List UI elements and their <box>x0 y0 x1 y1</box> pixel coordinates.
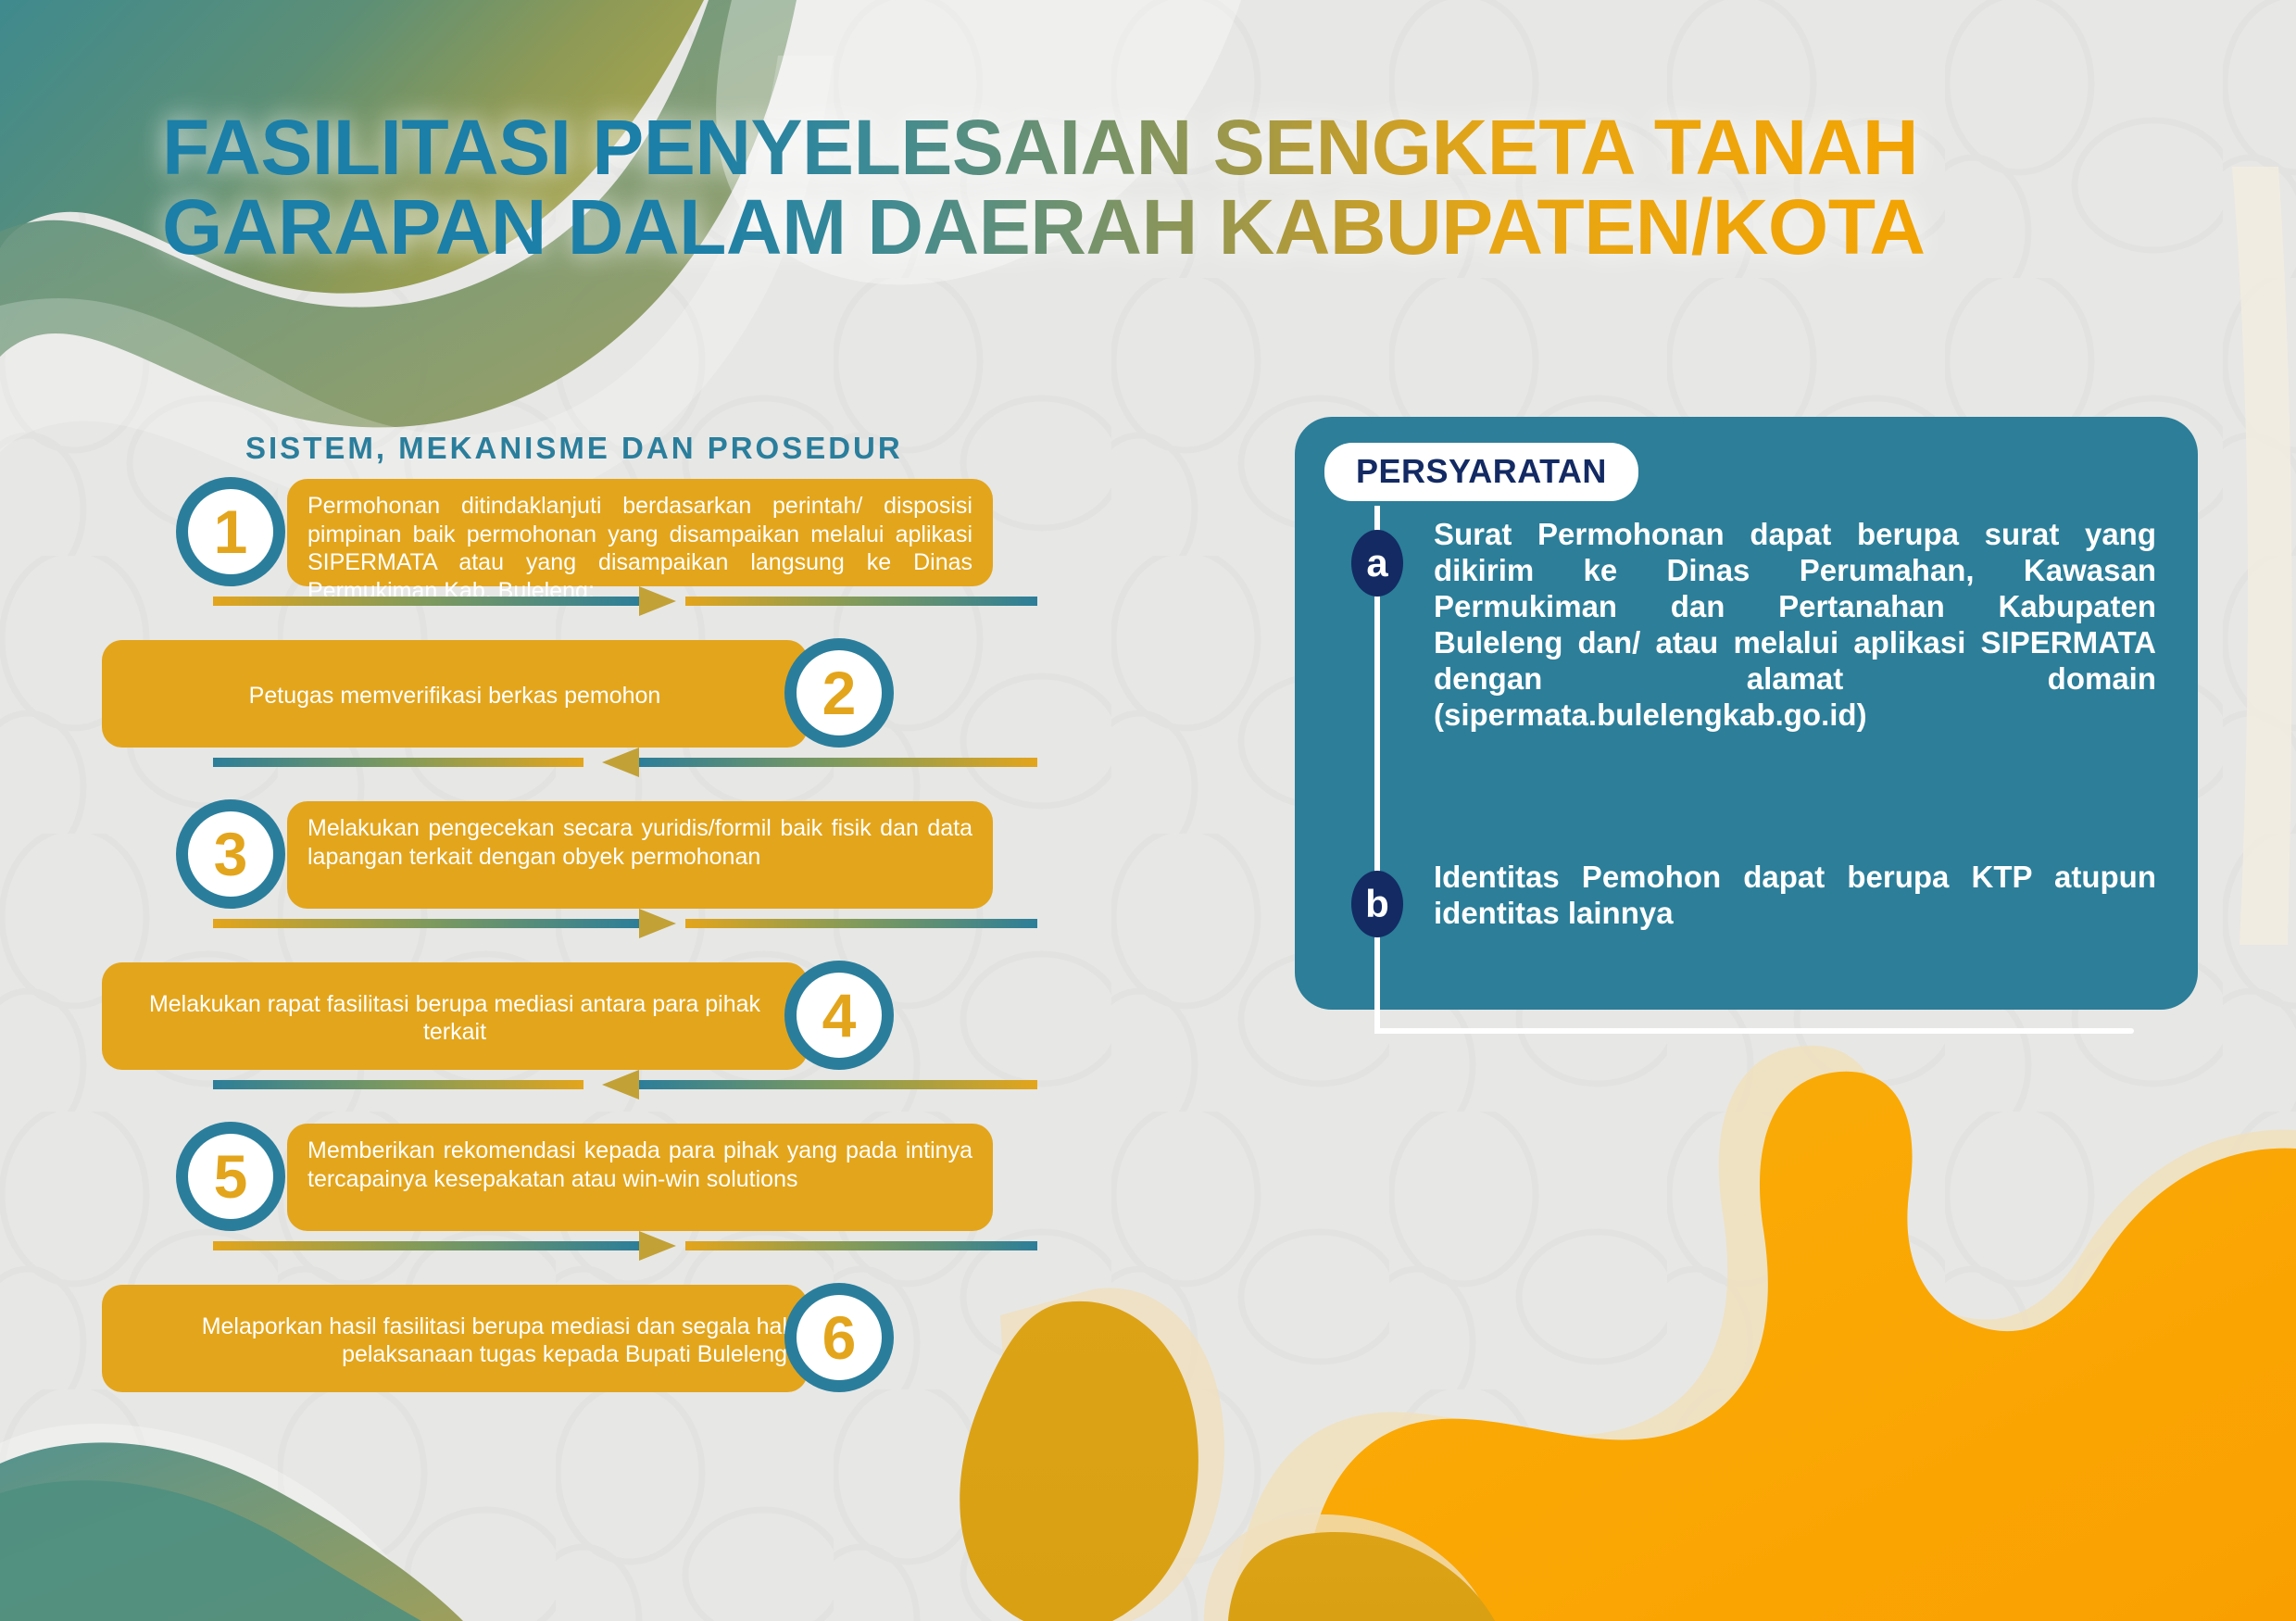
badge-inner: 5 <box>188 1134 273 1219</box>
title-line-1: FASILITASI PENYELESAIAN SENGKETA TANAH <box>162 109 2014 185</box>
requirement-text: Surat Permohonan dapat berupa surat yang… <box>1434 517 2156 734</box>
step-box: Melakukan rapat fasilitasi berupa medias… <box>102 962 808 1070</box>
badge-inner: 4 <box>797 973 882 1058</box>
step-box: Melakukan pengecekan secara yuridis/form… <box>287 801 993 909</box>
step-text: Melakukan rapat fasilitasi berupa medias… <box>122 990 787 1047</box>
step-number: 1 <box>214 501 248 562</box>
step-badge-3: 3 <box>176 799 285 909</box>
step-box: Petugas memverifikasi berkas pemohon <box>102 640 808 748</box>
step-box: Permohonan ditindaklanjuti berdasarkan p… <box>287 479 993 586</box>
step-badge-2: 2 <box>784 638 894 748</box>
infographic-poster: FASILITASI PENYELESAIAN SENGKETA TANAH G… <box>0 0 2296 1621</box>
connector-4-5 <box>157 1064 1084 1105</box>
procedure-step: 6 Melaporkan hasil fasilitasi berupa med… <box>157 1275 1084 1413</box>
title-line-2: GARAPAN DALAM DAERAH KABUPATEN/KOTA <box>162 189 2014 265</box>
requirements-heading: PERSYARATAN <box>1356 452 1607 490</box>
requirements-panel: PERSYARATAN a Surat Permohonan dapat ber… <box>1295 417 2198 1010</box>
procedure-step: 4 Melakukan rapat fasilitasi berupa medi… <box>157 953 1084 1090</box>
badge-inner: 6 <box>797 1295 882 1380</box>
step-badge-5: 5 <box>176 1122 285 1231</box>
step-badge-1: 1 <box>176 477 285 586</box>
step-badge-6: 6 <box>784 1283 894 1392</box>
step-box: Melaporkan hasil fasilitasi berupa media… <box>102 1285 808 1392</box>
requirement-marker-a: a <box>1351 530 1403 597</box>
step-number: 5 <box>214 1146 248 1207</box>
requirement-item: Surat Permohonan dapat berupa surat yang… <box>1434 517 2156 734</box>
procedure-step: 1 Permohonan ditindaklanjuti berdasarkan… <box>157 470 1084 607</box>
badge-inner: 1 <box>188 489 273 574</box>
step-text: Melakukan pengecekan secara yuridis/form… <box>307 814 972 871</box>
requirement-marker-label: b <box>1365 882 1389 926</box>
step-number: 2 <box>822 662 857 723</box>
step-number: 6 <box>822 1307 857 1368</box>
procedure-section: SISTEM, MEKANISME DAN PROSEDUR 1 <box>157 431 1084 1424</box>
badge-inner: 3 <box>188 811 273 897</box>
connector-2-3 <box>157 742 1084 783</box>
requirement-item: Identitas Pemohon dapat berupa KTP atupu… <box>1434 860 2156 932</box>
step-number: 3 <box>214 823 248 885</box>
requirements-title-pill: PERSYARATAN <box>1324 443 1638 501</box>
step-text: Memberikan rekomendasi kepada para pihak… <box>307 1137 972 1193</box>
badge-inner: 2 <box>797 650 882 735</box>
requirement-marker-b: b <box>1351 871 1403 937</box>
step-box: Memberikan rekomendasi kepada para pihak… <box>287 1124 993 1231</box>
requirement-text: Identitas Pemohon dapat berupa KTP atupu… <box>1434 860 2156 932</box>
step-badge-4: 4 <box>784 961 894 1070</box>
requirement-marker-label: a <box>1366 541 1387 585</box>
step-text: Melaporkan hasil fasilitasi berupa media… <box>122 1313 787 1369</box>
step-number: 4 <box>822 985 857 1046</box>
poster-title: FASILITASI PENYELESAIAN SENGKETA TANAH G… <box>162 109 2014 266</box>
step-text: Petugas memverifikasi berkas pemohon <box>122 682 787 710</box>
procedure-step: 5 Memberikan rekomendasi kepada para pih… <box>157 1114 1084 1251</box>
requirements-rail-foot <box>1374 1028 2134 1034</box>
procedure-heading: SISTEM, MEKANISME DAN PROSEDUR <box>245 431 1084 466</box>
procedure-step: 3 Melakukan pengecekan secara yuridis/fo… <box>157 792 1084 929</box>
procedure-step: 2 Petugas memverifikasi berkas pemohon <box>157 631 1084 768</box>
